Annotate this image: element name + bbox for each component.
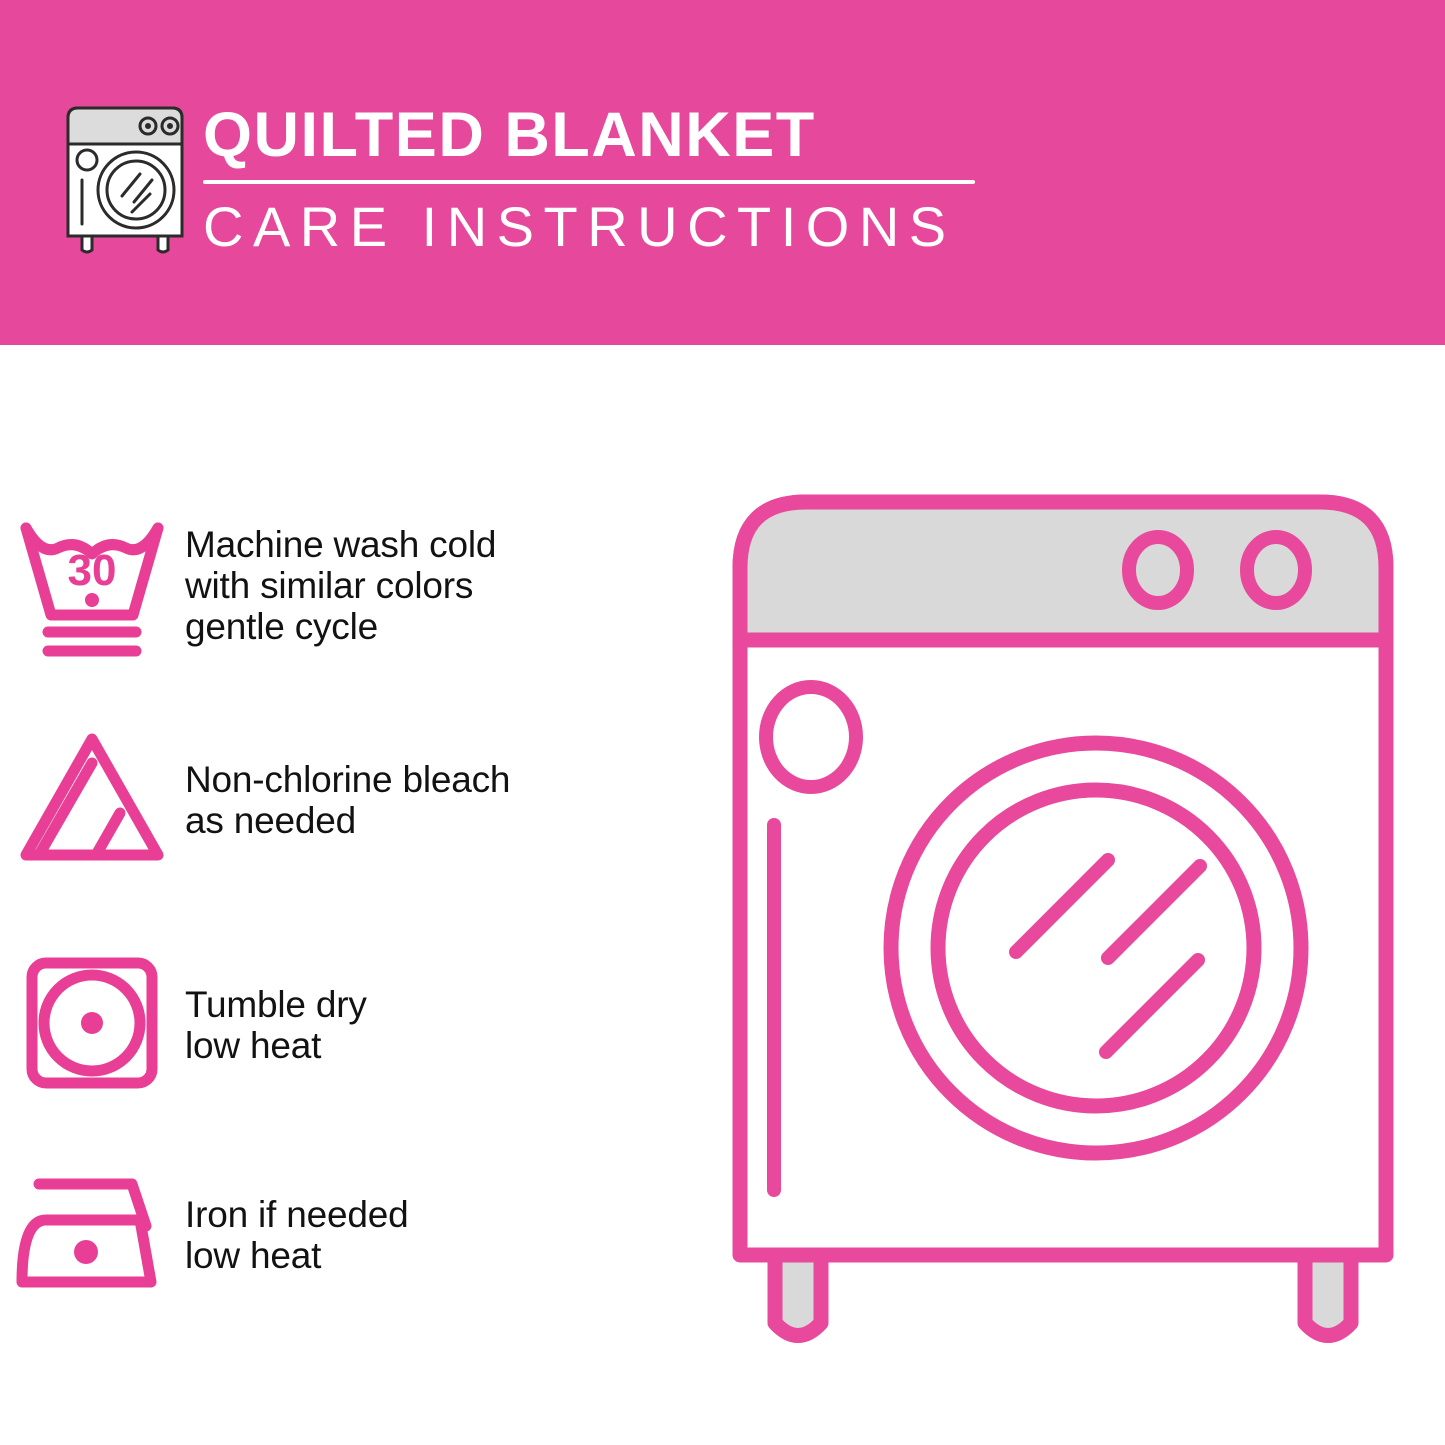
care-instruction-row-tumble-dry: Tumble dry low heat bbox=[0, 940, 700, 1110]
care-instruction-label-wash: Machine wash cold with similar colors ge… bbox=[185, 524, 700, 647]
header-banner: QUILTED BLANKET CARE INSTRUCTIONS bbox=[0, 0, 1445, 345]
wash-tub-30-gentle-icon: 30 bbox=[0, 510, 185, 660]
care-label-line: Tumble dry bbox=[185, 984, 700, 1025]
care-label-line: Non-chlorine bleach bbox=[185, 759, 700, 800]
page-subtitle: CARE INSTRUCTIONS bbox=[203, 196, 993, 258]
care-label-line: with similar colors bbox=[185, 565, 700, 606]
care-instructions-list: 30 Machine wash cold with similar colors… bbox=[0, 345, 700, 1445]
care-label-line: Iron if needed bbox=[185, 1194, 700, 1235]
care-instruction-label-bleach: Non-chlorine bleach as needed bbox=[185, 759, 700, 841]
care-label-line: low heat bbox=[185, 1025, 700, 1066]
page-title: QUILTED BLANKET bbox=[203, 100, 993, 170]
leg-left bbox=[775, 1255, 821, 1336]
care-label-line: as needed bbox=[185, 800, 700, 841]
care-instruction-label-tumble-dry: Tumble dry low heat bbox=[185, 984, 700, 1066]
front-load-washing-machine-illustration bbox=[718, 480, 1408, 1360]
header-divider bbox=[203, 180, 975, 184]
washing-machine-icon bbox=[60, 104, 190, 254]
care-instruction-row-bleach: Non-chlorine bleach as needed bbox=[0, 715, 700, 885]
triangle-non-chlorine-bleach-icon bbox=[0, 725, 185, 875]
care-label-line: gentle cycle bbox=[185, 606, 700, 647]
drum-door-inner-ring bbox=[938, 790, 1254, 1106]
knob-left bbox=[1129, 537, 1187, 603]
tumble-dry-low-heat-icon bbox=[0, 950, 185, 1100]
care-instruction-row-wash: 30 Machine wash cold with similar colors… bbox=[0, 495, 700, 675]
knob-right bbox=[1247, 537, 1305, 603]
svg-text:30: 30 bbox=[68, 546, 117, 595]
care-label-line: Machine wash cold bbox=[185, 524, 700, 565]
iron-low-heat-icon bbox=[0, 1160, 185, 1310]
care-instruction-row-iron: Iron if needed low heat bbox=[0, 1150, 700, 1320]
care-instruction-label-iron: Iron if needed low heat bbox=[185, 1194, 700, 1276]
header-text-block: QUILTED BLANKET CARE INSTRUCTIONS bbox=[203, 100, 993, 258]
leg-right bbox=[1305, 1255, 1351, 1336]
care-label-line: low heat bbox=[185, 1235, 700, 1276]
detergent-button bbox=[766, 687, 856, 787]
